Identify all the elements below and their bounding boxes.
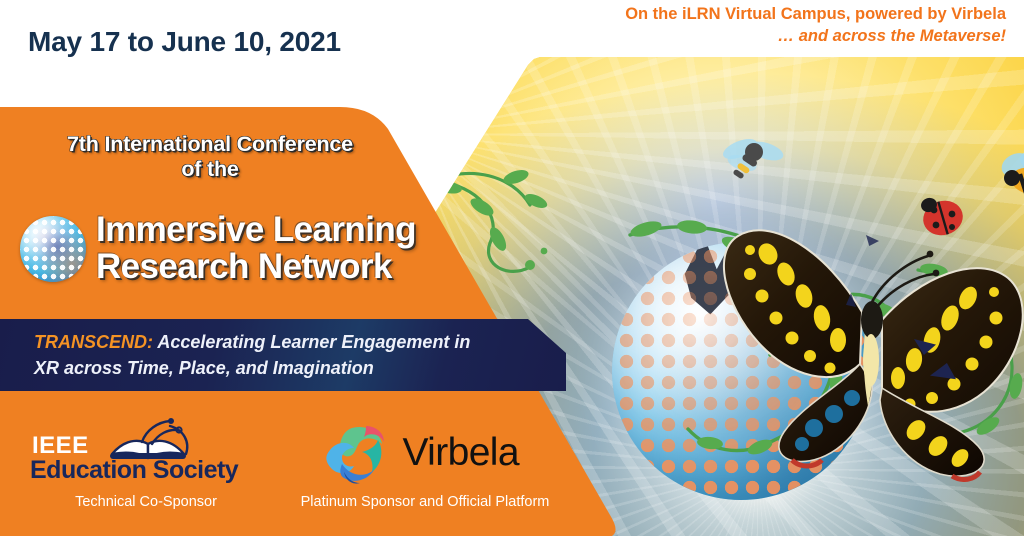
ieee-sponsor-caption: Technical Co-Sponsor [30, 494, 262, 510]
conference-heading-line-2: of the [0, 157, 420, 182]
open-book-network-icon [108, 418, 194, 462]
sphere-tint [20, 216, 86, 282]
virbela-sponsor-caption: Platinum Sponsor and Official Platform [272, 494, 578, 510]
theme-text: TRANSCEND: Accelerating Learner Engageme… [0, 319, 540, 391]
dragonfly-icon [712, 135, 784, 192]
sponsor-virbela: Virbela [322, 424, 519, 486]
tagline: On the iLRN Virtual Campus, powered by V… [625, 4, 1006, 48]
theme-line-2: XR across Time, Place, and Imagination [34, 356, 512, 382]
organization-name-line-2: Research Network [96, 248, 416, 285]
theme-line-1: Accelerating Learner Engagement in [153, 332, 470, 352]
virbela-wordmark: Virbela [402, 431, 519, 475]
halftone-sphere-icon [20, 216, 86, 282]
tagline-line-1: On the iLRN Virtual Campus, powered by V… [625, 4, 1006, 26]
conference-heading-line-1: 7th International Conference [0, 132, 420, 157]
sponsor-ieee: IEEE Education Society [30, 424, 262, 486]
theme-keyword: TRANSCEND: [34, 332, 153, 352]
conference-banner: May 17 to June 10, 2021 On the iLRN Virt… [0, 0, 1024, 536]
conference-dates: May 17 to June 10, 2021 [28, 26, 341, 58]
ieee-logo: IEEE Education Society [30, 424, 262, 486]
organization-name-line-1: Immersive Learning [96, 211, 416, 248]
conference-heading: 7th International Conference of the [0, 132, 420, 183]
virbela-swirl-icon [322, 424, 388, 486]
organization-name: Immersive Learning Research Network [96, 211, 416, 285]
tagline-line-2: … and across the Metaverse! [625, 26, 1006, 48]
